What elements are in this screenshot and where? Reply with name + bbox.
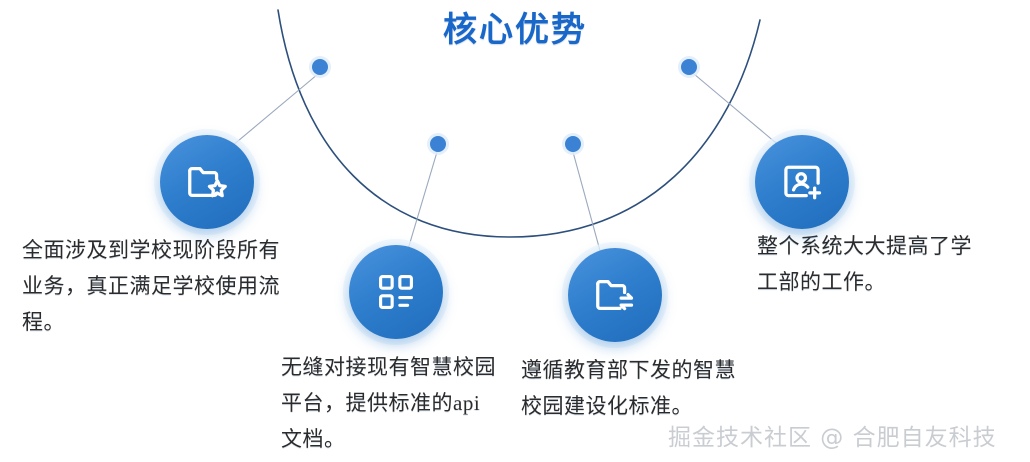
leader-line-3 bbox=[573, 152, 602, 258]
infographic-canvas: 核心优势 bbox=[0, 0, 1030, 462]
node-circle-4[interactable] bbox=[755, 135, 849, 229]
connector-dot-3 bbox=[565, 136, 581, 152]
leader-line-4 bbox=[694, 74, 782, 148]
user-card-add-icon bbox=[779, 159, 825, 205]
node-circle-1[interactable] bbox=[160, 135, 254, 229]
connector-dot-4 bbox=[681, 59, 697, 75]
grid-layout-icon bbox=[375, 271, 417, 313]
leader-line-2 bbox=[406, 152, 437, 256]
folder-star-icon bbox=[184, 159, 230, 205]
node-caption-4: 整个系统大大提高了学工部的工作。 bbox=[757, 228, 983, 300]
node-caption-3: 遵循教育部下发的智慧校园建设化标准。 bbox=[521, 352, 753, 424]
node-caption-2: 无缝对接现有智慧校园平台，提供标准的api文档。 bbox=[281, 349, 499, 457]
node-caption-1: 全面涉及到学校现阶段所有业务，真正满足学校使用流程。 bbox=[22, 232, 284, 340]
node-circle-3[interactable] bbox=[568, 248, 662, 342]
connector-dot-1 bbox=[312, 59, 328, 75]
connector-dot-2 bbox=[430, 136, 446, 152]
node-circle-2[interactable] bbox=[349, 245, 443, 339]
page-title: 核心优势 bbox=[0, 2, 1030, 51]
leader-line-1 bbox=[232, 74, 318, 146]
watermark: 掘金技术社区 @ 合肥自友科技 bbox=[668, 418, 997, 452]
folder-transfer-icon bbox=[592, 272, 638, 318]
